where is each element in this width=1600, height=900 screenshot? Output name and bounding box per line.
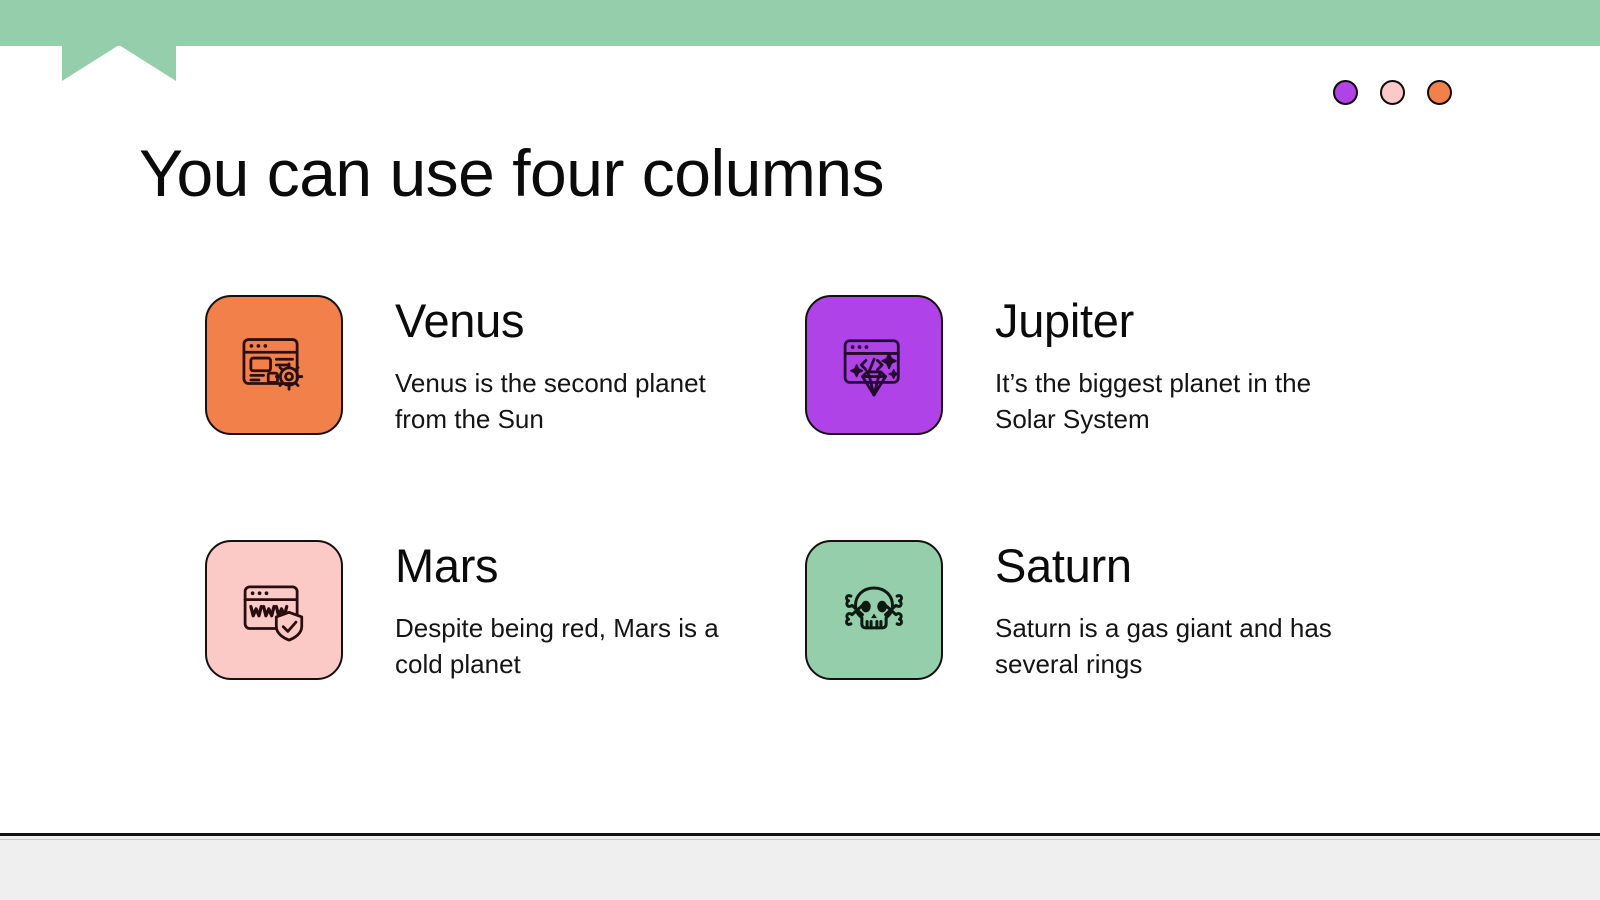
decorative-dots-group	[1333, 80, 1452, 105]
icon-tile-jupiter	[805, 295, 943, 435]
column-body: It’s the biggest planet in the Solar Sys…	[995, 366, 1355, 438]
column-jupiter: Jupiter It’s the biggest planet in the S…	[805, 295, 1405, 540]
column-venus: Venus Venus is the second planet from th…	[205, 295, 805, 540]
icon-tile-mars	[205, 540, 343, 680]
column-heading: Venus	[395, 297, 755, 344]
page-title: You can use four columns	[139, 138, 884, 209]
column-saturn: Saturn Saturn is a gas giant and has sev…	[805, 540, 1405, 785]
column-body: Despite being red, Mars is a cold planet	[395, 611, 755, 683]
dot-pink	[1380, 80, 1405, 105]
column-body: Venus is the second planet from the Sun	[395, 366, 755, 438]
top-band-notch	[62, 45, 176, 81]
column-text-jupiter: Jupiter It’s the biggest planet in the S…	[995, 295, 1355, 438]
column-text-mars: Mars Despite being red, Mars is a cold p…	[395, 540, 755, 683]
column-mars: Mars Despite being red, Mars is a cold p…	[205, 540, 805, 785]
column-body: Saturn is a gas giant and has several ri…	[995, 611, 1355, 683]
browser-www-shield-icon	[237, 573, 311, 647]
browser-code-diamond-icon	[837, 328, 911, 402]
icon-tile-saturn	[805, 540, 943, 680]
top-green-band	[0, 0, 1600, 46]
column-heading: Mars	[395, 542, 755, 589]
column-text-venus: Venus Venus is the second planet from th…	[395, 295, 755, 438]
column-heading: Saturn	[995, 542, 1355, 589]
dot-orange	[1427, 80, 1452, 105]
editor-background-area	[0, 839, 1600, 900]
skull-crossbones-icon	[837, 573, 911, 647]
browser-settings-icon	[237, 328, 311, 402]
column-heading: Jupiter	[995, 297, 1355, 344]
slide-canvas: You can use four columns	[0, 0, 1600, 836]
icon-tile-venus	[205, 295, 343, 435]
column-text-saturn: Saturn Saturn is a gas giant and has sev…	[995, 540, 1355, 683]
dot-purple	[1333, 80, 1358, 105]
four-column-grid: Venus Venus is the second planet from th…	[205, 295, 1405, 785]
